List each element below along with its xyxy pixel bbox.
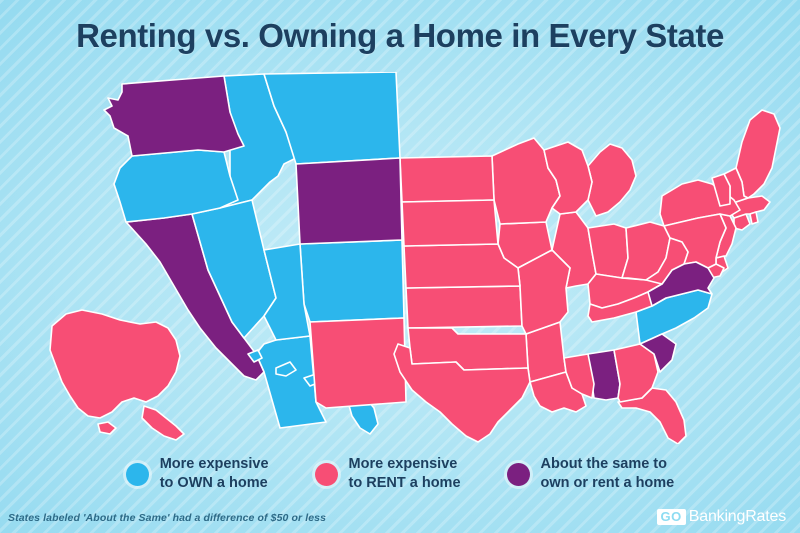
map-svg: AlabamaAlaskaArizonaArkansasCaliforniaCo… [48,72,800,444]
legend-swatch-rent [315,463,338,486]
legend-item-rent[interactable]: More expensive to RENT a home [315,455,461,492]
state-ks[interactable]: Kansas [406,286,522,328]
infographic-root: Renting vs. Owning a Home in Every State… [0,0,800,533]
state-co[interactable]: Colorado [300,240,404,322]
state-nd[interactable]: North Dakota [400,156,494,202]
state-ak[interactable]: Alaska [50,310,184,440]
gobankingrates-logo: GO BankingRates [657,509,786,525]
legend-label-same: About the same to own or rent a home [541,455,675,492]
legend-swatch-same [507,463,530,486]
logo-go-mark: GO [657,509,686,525]
legend-item-own[interactable]: More expensive to OWN a home [126,455,269,492]
legend: More expensive to OWN a homeMore expensi… [0,446,800,502]
us-choropleth-map: AlabamaAlaskaArizonaArkansasCaliforniaCo… [48,72,800,444]
page-title: Renting vs. Owning a Home in Every State [76,17,724,55]
states-layer: AlabamaAlaskaArizonaArkansasCaliforniaCo… [50,72,780,444]
legend-item-same[interactable]: About the same to own or rent a home [507,455,675,492]
title-bar: Renting vs. Owning a Home in Every State [0,0,800,72]
legend-label-rent: More expensive to RENT a home [349,455,461,492]
state-nm[interactable]: New Mexico [310,318,406,408]
state-sd[interactable]: South Dakota [402,200,498,246]
logo-wordmark: BankingRates [689,509,786,525]
state-wy[interactable]: Wyoming [296,158,402,244]
footnote: States labeled 'About the Same' had a di… [8,512,326,524]
state-wa[interactable]: Washington [104,76,244,156]
legend-label-own: More expensive to OWN a home [160,455,269,492]
state-ri[interactable]: Rhode Island [750,212,758,224]
legend-swatch-own [126,463,149,486]
state-mi[interactable]: Michigan [588,144,636,216]
